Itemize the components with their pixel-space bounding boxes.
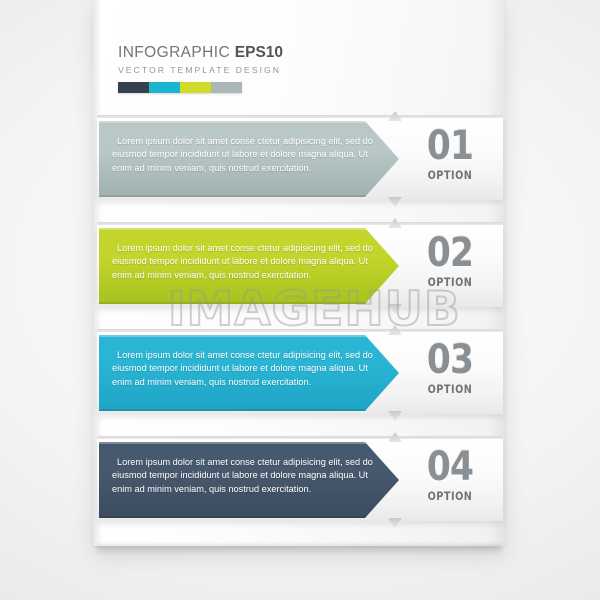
page-subtitle: VECTOR TEMPLATE DESIGN: [118, 65, 358, 75]
option-body-text: Lorem ipsum dolor sit amet conse ctetur …: [112, 456, 382, 496]
option-row-1[interactable]: Lorem ipsum dolor sit amet conse ctetur …: [0, 115, 600, 203]
option-number: 03: [414, 339, 486, 381]
option-number-block: 01 OPTION: [408, 125, 492, 182]
option-number-block: 02 OPTION: [408, 232, 492, 289]
option-label: OPTION: [415, 275, 486, 289]
arrow-highlight: [99, 228, 399, 230]
arrow-shade: [99, 516, 399, 518]
option-label: OPTION: [415, 489, 486, 503]
title-main: INFOGRAPHIC: [118, 44, 230, 61]
option-number-block: 03 OPTION: [408, 339, 492, 396]
arrow-shade: [99, 302, 399, 304]
option-row-3[interactable]: Lorem ipsum dolor sit amet conse ctetur …: [0, 329, 600, 417]
option-label: OPTION: [415, 168, 486, 182]
option-number-block: 04 OPTION: [408, 446, 492, 503]
arrow-highlight: [99, 121, 399, 123]
option-label: OPTION: [415, 382, 486, 396]
page-title: INFOGRAPHIC EPS10: [118, 44, 358, 62]
panel-bottom-shadow: [97, 545, 501, 555]
title-bold: EPS10: [235, 44, 283, 61]
option-row-2[interactable]: Lorem ipsum dolor sit amet conse ctetur …: [0, 222, 600, 310]
arrow-shade: [99, 409, 399, 411]
header: INFOGRAPHIC EPS10 VECTOR TEMPLATE DESIGN: [118, 44, 358, 93]
color-swatch-strip: [118, 82, 242, 93]
option-number: 01: [414, 125, 486, 167]
swatch-2: [149, 82, 180, 93]
option-body-text: Lorem ipsum dolor sit amet conse ctetur …: [112, 135, 382, 175]
swatch-1: [118, 82, 149, 93]
arrow-shade: [99, 195, 399, 197]
option-body-text: Lorem ipsum dolor sit amet conse ctetur …: [112, 349, 382, 389]
option-number: 02: [414, 232, 486, 274]
arrow-highlight: [99, 442, 399, 444]
swatch-3: [180, 82, 211, 93]
swatch-4: [211, 82, 242, 93]
option-body-text: Lorem ipsum dolor sit amet conse ctetur …: [112, 242, 382, 282]
arrow-highlight: [99, 335, 399, 337]
option-row-4[interactable]: Lorem ipsum dolor sit amet conse ctetur …: [0, 436, 600, 524]
option-number: 04: [414, 446, 486, 488]
infographic-canvas: INFOGRAPHIC EPS10 VECTOR TEMPLATE DESIGN…: [0, 0, 600, 600]
